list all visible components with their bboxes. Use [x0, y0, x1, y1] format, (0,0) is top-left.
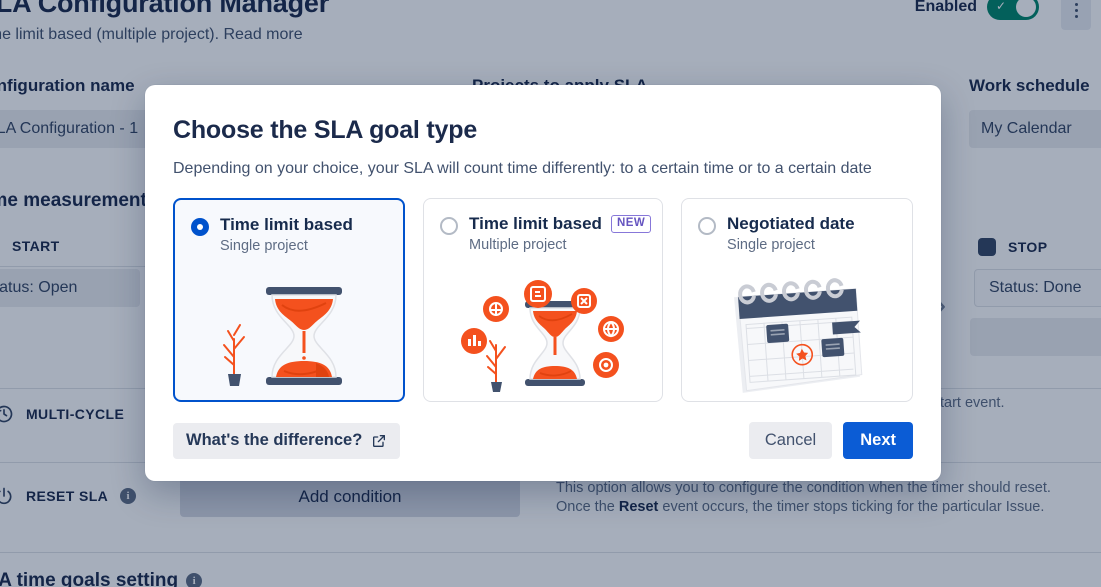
- hourglass-plant-illustration: [175, 276, 403, 394]
- hourglass-multi-app-illustration: [424, 277, 662, 395]
- footer-actions: Cancel Next: [749, 422, 913, 459]
- option-title-row: Negotiated date: [727, 214, 855, 234]
- whats-the-difference-label: What's the difference?: [186, 431, 362, 450]
- option-subtitle: Single project: [727, 237, 855, 253]
- option-title-row: Time limit based NEW: [469, 214, 651, 234]
- option-text: Time limit based Single project: [220, 215, 353, 254]
- radio-icon[interactable]: [440, 217, 458, 235]
- modal-footer: What's the difference? Cancel Next: [173, 422, 913, 459]
- sla-goal-type-modal: Choose the SLA goal type Depending on yo…: [145, 85, 941, 481]
- option-card-negotiated-date[interactable]: Negotiated date Single project: [681, 198, 913, 402]
- option-title-row: Time limit based: [220, 215, 353, 235]
- screen-root: SLA Configuration Manager Time limit bas…: [0, 0, 1101, 587]
- modal-title: Choose the SLA goal type: [173, 116, 913, 145]
- option-card-time-limit-multiple[interactable]: Time limit based NEW Multiple project: [423, 198, 663, 402]
- radio-icon[interactable]: [698, 217, 716, 235]
- external-link-icon: [371, 433, 387, 449]
- whats-the-difference-button[interactable]: What's the difference?: [173, 423, 400, 459]
- option-text: Time limit based NEW Multiple project: [469, 214, 651, 253]
- option-header: Negotiated date Single project: [682, 214, 912, 253]
- option-card-time-limit-single[interactable]: Time limit based Single project: [173, 198, 405, 402]
- new-badge: NEW: [611, 215, 651, 233]
- option-text: Negotiated date Single project: [727, 214, 855, 253]
- option-title: Negotiated date: [727, 214, 855, 234]
- option-header: Time limit based NEW Multiple project: [424, 214, 662, 253]
- option-title: Time limit based: [469, 214, 602, 234]
- goal-type-options: Time limit based Single project: [173, 198, 913, 402]
- option-title: Time limit based: [220, 215, 353, 235]
- radio-icon-selected[interactable]: [191, 218, 209, 236]
- next-button[interactable]: Next: [843, 422, 913, 459]
- modal-description: Depending on your choice, your SLA will …: [173, 157, 915, 180]
- option-header: Time limit based Single project: [175, 215, 403, 254]
- hourglass-multi-app-svg: [448, 279, 638, 393]
- option-subtitle: Single project: [220, 238, 353, 254]
- calendar-svg: [717, 277, 877, 395]
- hourglass-plant-svg: [204, 279, 374, 391]
- cancel-button[interactable]: Cancel: [749, 422, 832, 459]
- calendar-illustration: [682, 277, 912, 395]
- option-subtitle: Multiple project: [469, 237, 651, 253]
